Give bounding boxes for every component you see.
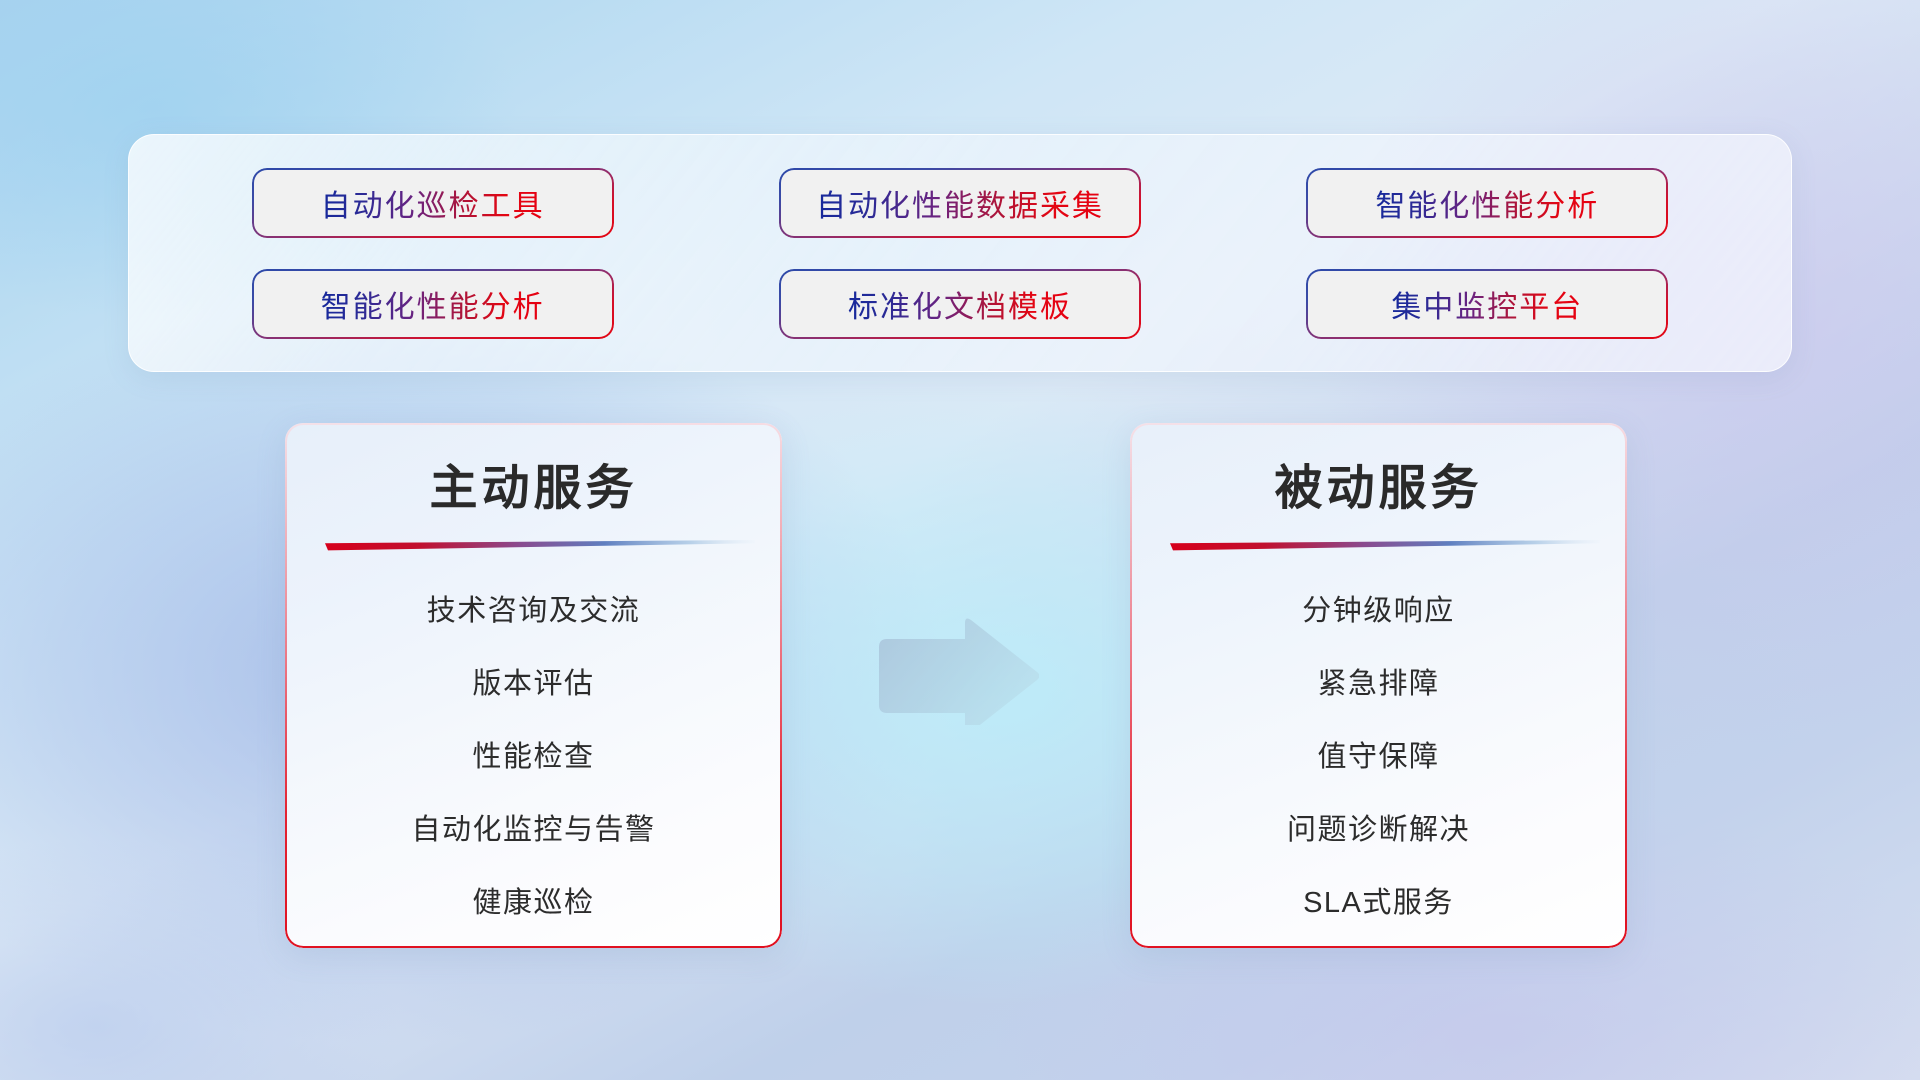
service-item[interactable]: SLA式服务	[1170, 867, 1587, 940]
service-card-passive: 被动服务 分钟级响应 紧急排障 值守保障	[1130, 423, 1627, 948]
service-item[interactable]: 紧急排障	[1170, 648, 1587, 721]
card-divider	[1170, 540, 1600, 551]
capability-tag-5[interactable]: 标准化文档模板	[781, 271, 1139, 337]
capability-tags-panel: 自动化巡检工具 自动化性能数据采集 智能化性能分析 智能化性能分析 标准化文档模…	[128, 134, 1792, 372]
capability-tag-label: 智能化性能分析	[1375, 181, 1599, 225]
service-item[interactable]: 技术咨询及交流	[325, 575, 742, 648]
arrow-right-icon	[873, 617, 1039, 725]
service-item-list: 分钟级响应 紧急排障 值守保障 问题诊断解决 SLA式服务	[1170, 575, 1587, 940]
service-item[interactable]: 分钟级响应	[1170, 575, 1587, 648]
card-title: 主动服务	[325, 461, 742, 516]
capability-tag-6[interactable]: 集中监控平台	[1308, 271, 1666, 337]
capability-tag-label: 智能化性能分析	[321, 282, 545, 326]
capability-tag-label: 集中监控平台	[1391, 282, 1583, 326]
capability-tag-4[interactable]: 智能化性能分析	[254, 271, 612, 337]
capability-tag-label: 自动化性能数据采集	[816, 181, 1104, 225]
service-card-active: 主动服务 技术咨询及交流 版本评估 性能检查	[285, 423, 782, 948]
card-title: 被动服务	[1170, 461, 1587, 516]
capability-tag-3[interactable]: 智能化性能分析	[1308, 170, 1666, 236]
capability-tag-label: 自动化巡检工具	[321, 181, 545, 225]
capability-tag-label: 标准化文档模板	[848, 282, 1072, 326]
capability-tags-grid: 自动化巡检工具 自动化性能数据采集 智能化性能分析 智能化性能分析 标准化文档模…	[129, 135, 1791, 371]
capability-tag-2[interactable]: 自动化性能数据采集	[781, 170, 1139, 236]
card-divider	[325, 540, 755, 551]
service-item[interactable]: 值守保障	[1170, 721, 1587, 794]
service-item[interactable]: 健康巡检	[325, 867, 742, 940]
service-item[interactable]: 版本评估	[325, 648, 742, 721]
service-item[interactable]: 自动化监控与告警	[325, 794, 742, 867]
service-item[interactable]: 性能检查	[325, 721, 742, 794]
capability-tag-1[interactable]: 自动化巡检工具	[254, 170, 612, 236]
service-item[interactable]: 问题诊断解决	[1170, 794, 1587, 867]
service-item-list: 技术咨询及交流 版本评估 性能检查 自动化监控与告警 健康巡检	[325, 575, 742, 940]
